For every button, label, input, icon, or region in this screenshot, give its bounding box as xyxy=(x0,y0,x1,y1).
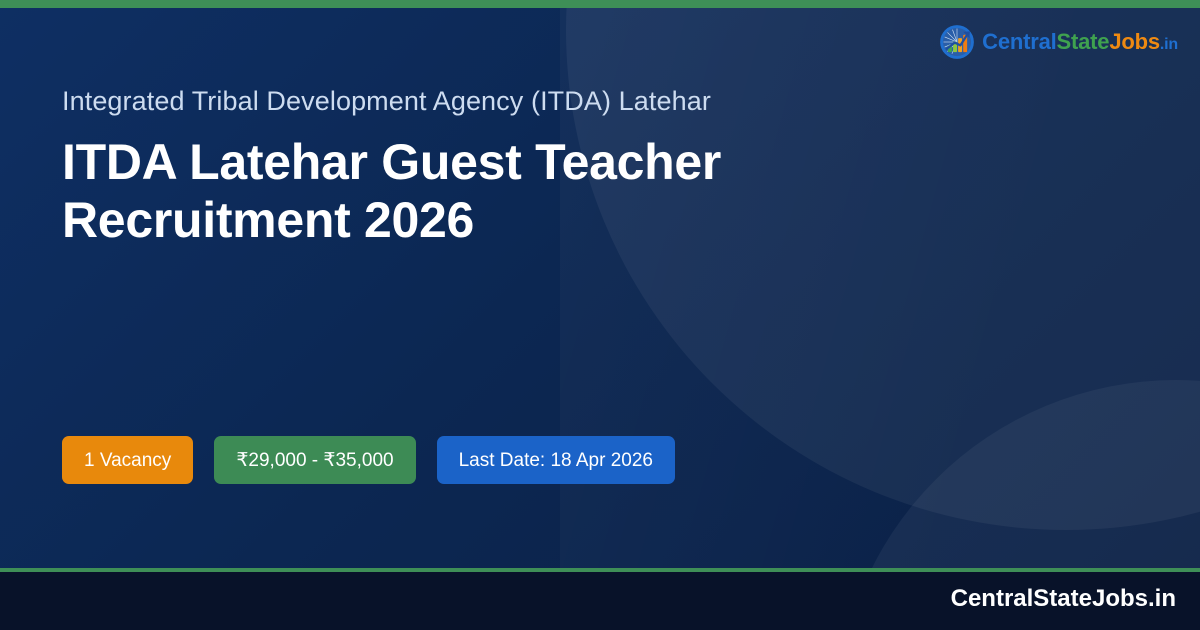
info-badges: 1 Vacancy ₹29,000 - ₹35,000 Last Date: 1… xyxy=(62,436,675,484)
logo-word-tld: .in xyxy=(1160,36,1178,53)
chart-arrow-growth-icon xyxy=(939,24,975,60)
logo-word-state: State xyxy=(1057,29,1110,54)
logo-word-central: Central xyxy=(982,29,1056,54)
site-logo[interactable]: CentralStateJobs.in xyxy=(939,24,1178,60)
footer-brand-text: CentralStateJobs.in xyxy=(951,587,1176,611)
logo-word-jobs: Jobs xyxy=(1109,29,1160,54)
job-banner: CentralStateJobs.in Integrated Tribal De… xyxy=(0,0,1200,630)
footer-bar: CentralStateJobs.in xyxy=(0,568,1200,630)
organization-name: Integrated Tribal Development Agency (IT… xyxy=(62,85,922,119)
top-accent-bar xyxy=(0,0,1200,8)
footer-accent-rule xyxy=(0,568,1200,572)
status-badge-vacancy: 1 Vacancy xyxy=(62,436,193,484)
banner-content: Integrated Tribal Development Agency (IT… xyxy=(62,0,922,249)
status-badge-salary: ₹29,000 - ₹35,000 xyxy=(214,436,415,484)
logo-wordmark: CentralStateJobs.in xyxy=(982,31,1178,53)
status-badge-last-date: Last Date: 18 Apr 2026 xyxy=(437,436,675,484)
page-title: ITDA Latehar Guest Teacher Recruitment 2… xyxy=(62,133,882,249)
